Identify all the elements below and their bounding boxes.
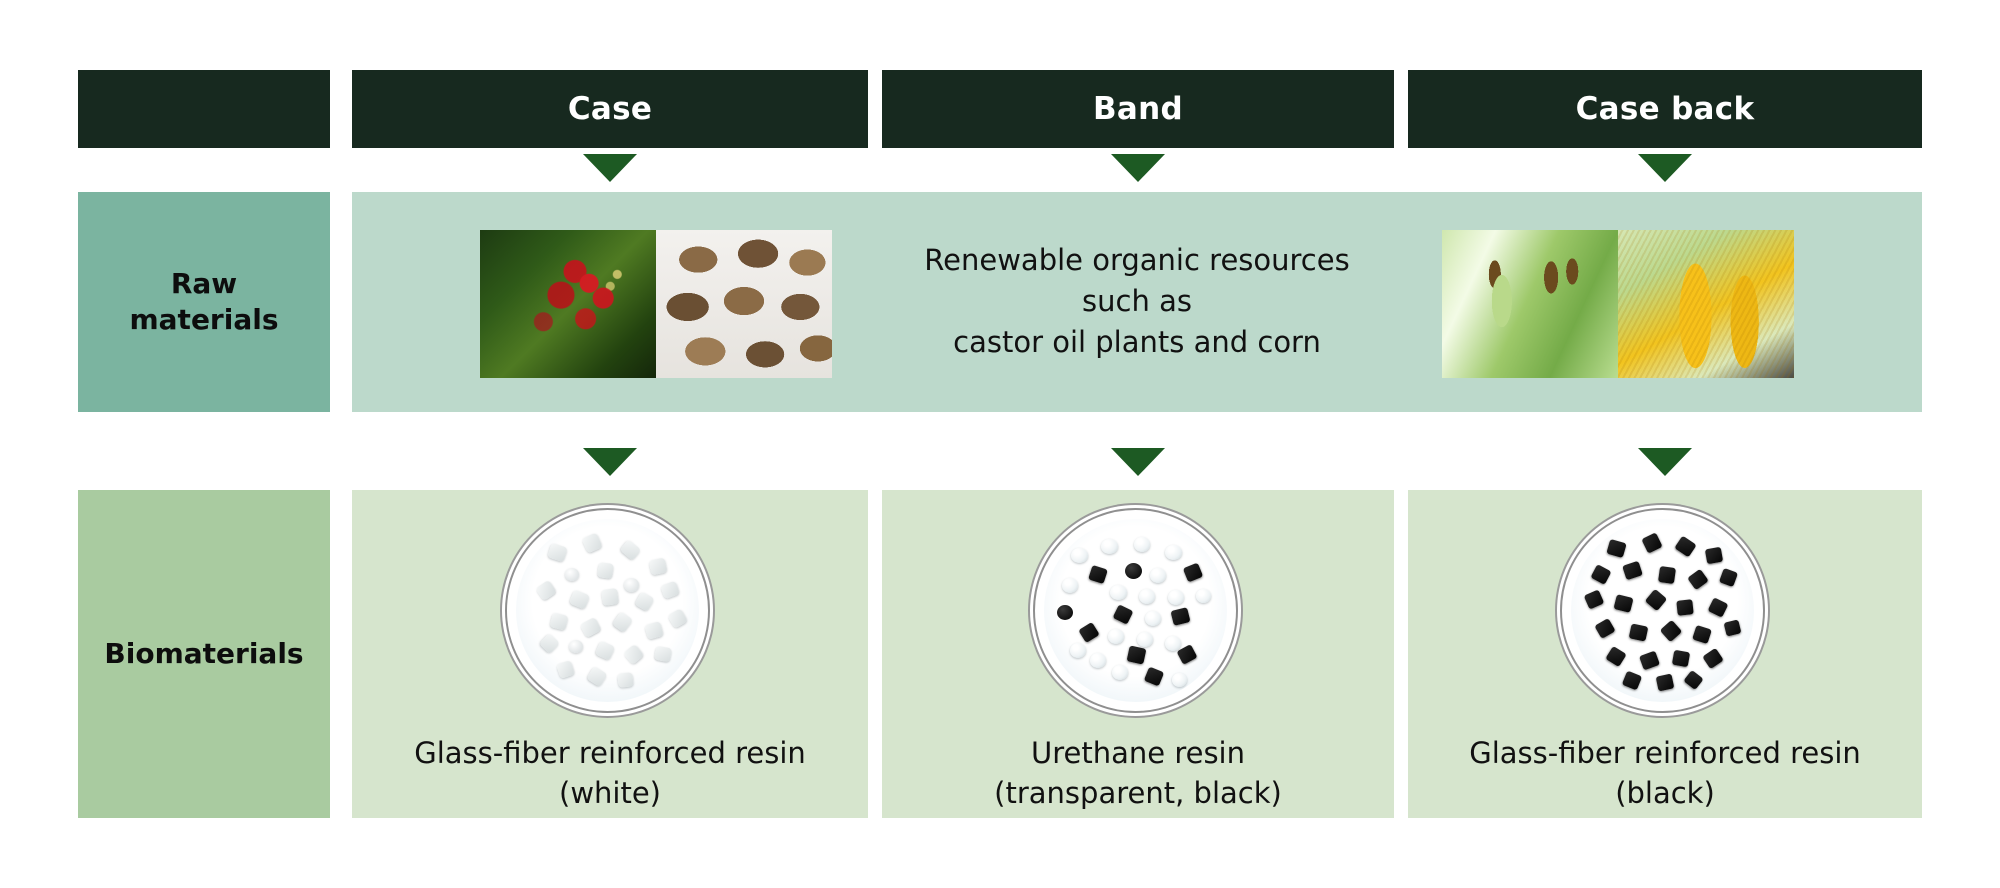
petri-dish-black-resin-contents bbox=[1571, 519, 1754, 702]
down-arrow-icon-caseback-top bbox=[1638, 154, 1692, 182]
header-column-case-back-label: Case back bbox=[1576, 91, 1755, 127]
header-column-band: Band bbox=[882, 70, 1394, 148]
biomaterials-caption-case-line1: Glass-fiber reinforced resin bbox=[352, 733, 868, 773]
biomaterials-caption-band-line2: (transparent, black) bbox=[882, 773, 1394, 813]
biomaterials-caption-case-back: Glass-fiber reinforced resin (black) bbox=[1408, 733, 1922, 813]
header-column-band-label: Band bbox=[1093, 91, 1183, 127]
header-corner-cell bbox=[78, 70, 330, 148]
biomaterials-caption-case-line2: (white) bbox=[352, 773, 868, 813]
corn-photo-pair bbox=[1442, 230, 1794, 378]
biomaterials-cell-case: Glass-fiber reinforced resin (white) bbox=[352, 490, 868, 818]
corn-field-photo bbox=[1442, 230, 1618, 378]
biomaterials-caption-band-line1: Urethane resin bbox=[882, 733, 1394, 773]
header-column-case-back: Case back bbox=[1408, 70, 1922, 148]
row-label-raw-materials-line1: Raw bbox=[129, 266, 278, 302]
petri-dish-white-resin bbox=[505, 508, 710, 713]
petri-dish-urethane-resin bbox=[1033, 508, 1238, 713]
down-arrow-icon-case-top bbox=[583, 154, 637, 182]
biomaterials-caption-case: Glass-fiber reinforced resin (white) bbox=[352, 733, 868, 813]
petri-dish-urethane-resin-contents bbox=[1044, 519, 1227, 702]
biomaterials-cell-band: Urethane resin (transparent, black) bbox=[882, 490, 1394, 818]
row-label-biomaterials-text: Biomaterials bbox=[104, 636, 303, 672]
down-arrow-icon-caseback-bottom bbox=[1638, 448, 1692, 476]
raw-materials-panel: Renewable organic resources such as cast… bbox=[352, 192, 1922, 412]
biomaterials-caption-band: Urethane resin (transparent, black) bbox=[882, 733, 1394, 813]
header-column-case-label: Case bbox=[568, 91, 652, 127]
down-arrow-icon-band-bottom bbox=[1111, 448, 1165, 476]
down-arrow-icon-case-bottom bbox=[583, 448, 637, 476]
down-arrow-icon-band-top bbox=[1111, 154, 1165, 182]
biomaterials-caption-case-back-line2: (black) bbox=[1408, 773, 1922, 813]
biomaterials-cell-case-back: Glass-fiber reinforced resin (black) bbox=[1408, 490, 1922, 818]
corn-cobs-photo bbox=[1618, 230, 1794, 378]
petri-dish-black-resin bbox=[1560, 508, 1765, 713]
row-label-raw-materials-line2: materials bbox=[129, 302, 278, 338]
row-label-biomaterials: Biomaterials bbox=[78, 490, 330, 818]
petri-dish-white-resin-contents bbox=[516, 519, 699, 702]
biomaterials-caption-case-back-line1: Glass-fiber reinforced resin bbox=[1408, 733, 1922, 773]
row-label-raw-materials: Raw materials bbox=[78, 192, 330, 412]
biomaterials-flow-diagram: Case Band Case back Raw materials Renewa… bbox=[0, 0, 2000, 888]
header-column-case: Case bbox=[352, 70, 868, 148]
